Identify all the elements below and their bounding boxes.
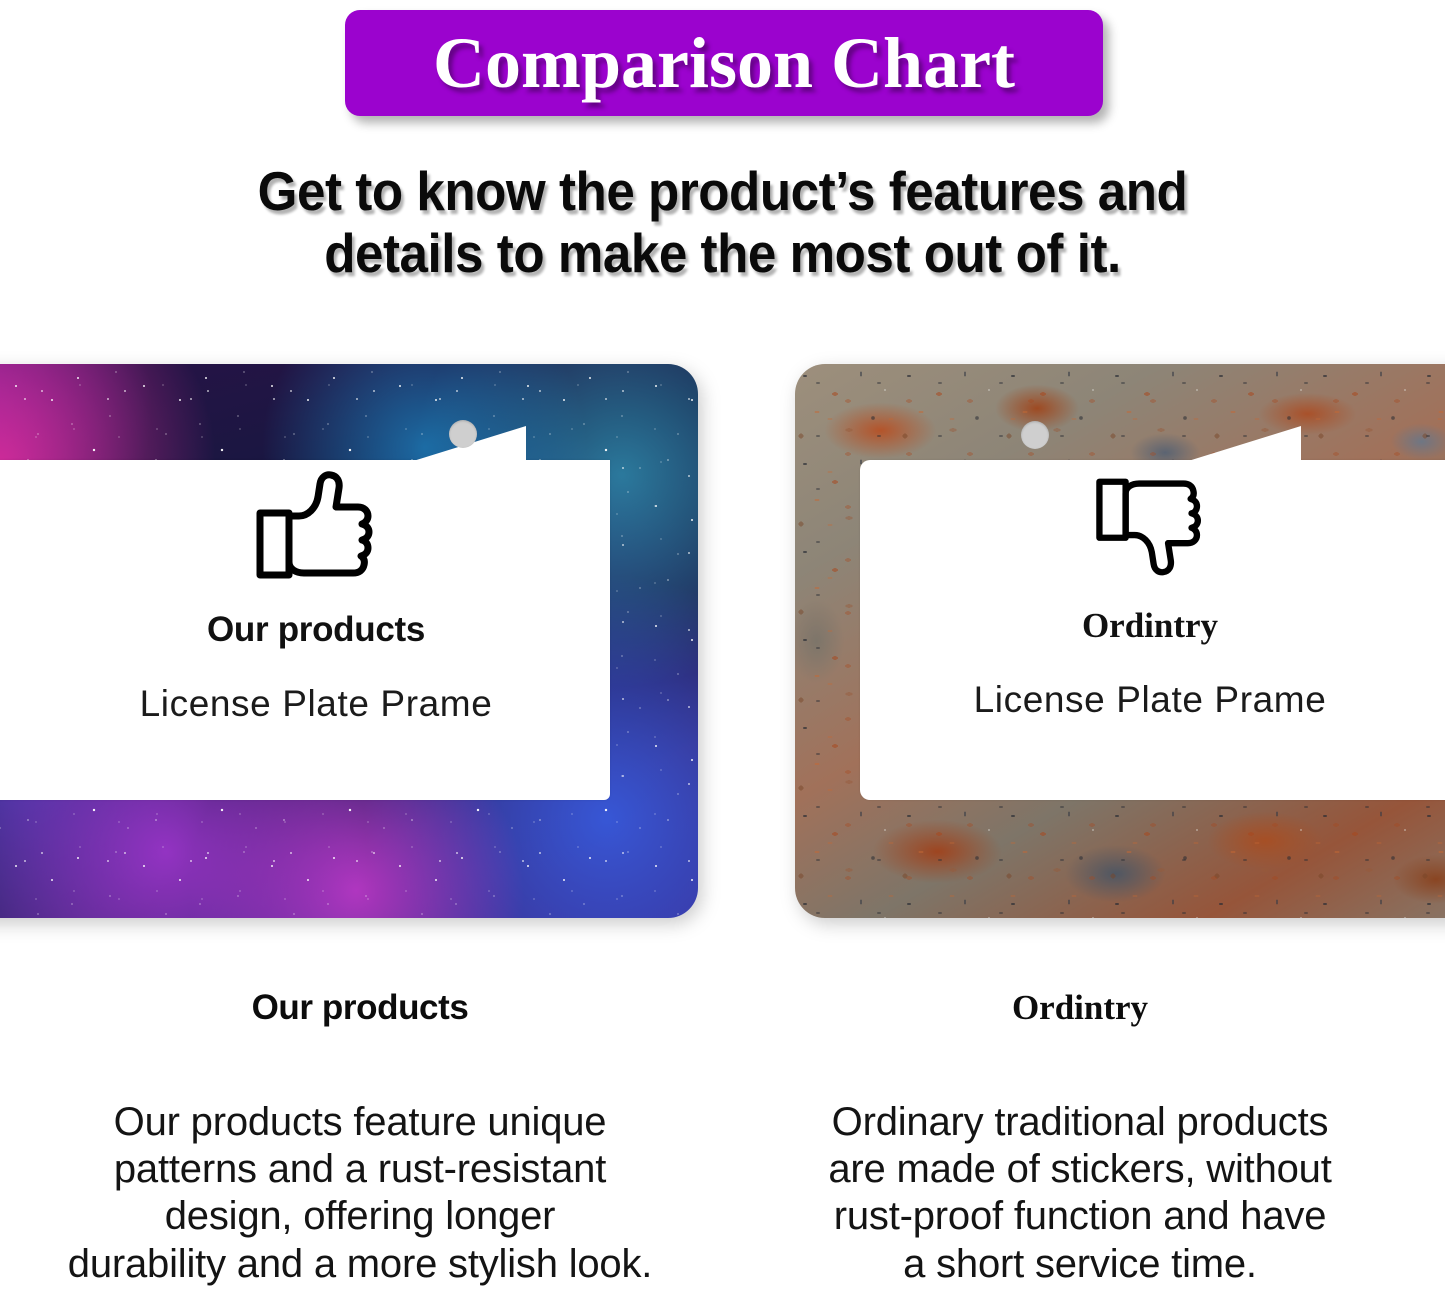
column-title: Our products <box>30 990 690 1025</box>
column-description: Ordinary traditional products are made o… <box>745 1099 1415 1288</box>
screw-hole-icon <box>449 420 477 448</box>
description-line: rust-proof function and have <box>745 1193 1415 1240</box>
ordinary-product-card-content: Ordintry License Plate Prame <box>880 470 1420 718</box>
our-product-card-content: Our products License Plate Prame <box>66 470 566 722</box>
description-line: design, offering longer <box>30 1193 690 1240</box>
description-line: a short service time. <box>745 1241 1415 1288</box>
subtitle-line-1: Get to know the product’s features and <box>51 160 1395 222</box>
description-line: Our products feature unique <box>30 1099 690 1146</box>
description-line: durability and a more stylish look. <box>30 1241 690 1288</box>
title-banner: Comparison Chart <box>345 10 1103 116</box>
description-line: patterns and a rust-resistant <box>30 1146 690 1193</box>
thumbs-up-icon <box>254 470 378 582</box>
column-description: Our products feature unique patterns and… <box>30 1099 690 1288</box>
description-line: Ordinary traditional products <box>745 1099 1415 1146</box>
description-line: are made of stickers, without <box>745 1146 1415 1193</box>
page-title: Comparison Chart <box>433 27 1015 99</box>
card-heading: Ordintry <box>880 608 1420 643</box>
subtitle-line-2: details to make the most out of it. <box>51 222 1395 284</box>
card-subheading: License Plate Prame <box>880 681 1420 718</box>
screw-hole-icon <box>1021 421 1049 449</box>
card-subheading: License Plate Prame <box>66 685 566 722</box>
thumbs-down-icon <box>1094 470 1206 582</box>
card-heading: Our products <box>66 612 566 647</box>
our-product-description-column: Our products Our products feature unique… <box>30 990 690 1288</box>
window-chamfer-right <box>1185 426 1301 462</box>
column-title: Ordintry <box>745 990 1415 1025</box>
comparison-chart-infographic: Comparison Chart Get to know the product… <box>0 0 1445 1314</box>
ordinary-product-description-column: Ordintry Ordinary traditional products a… <box>745 990 1415 1288</box>
subtitle: Get to know the product’s features and d… <box>51 160 1395 284</box>
